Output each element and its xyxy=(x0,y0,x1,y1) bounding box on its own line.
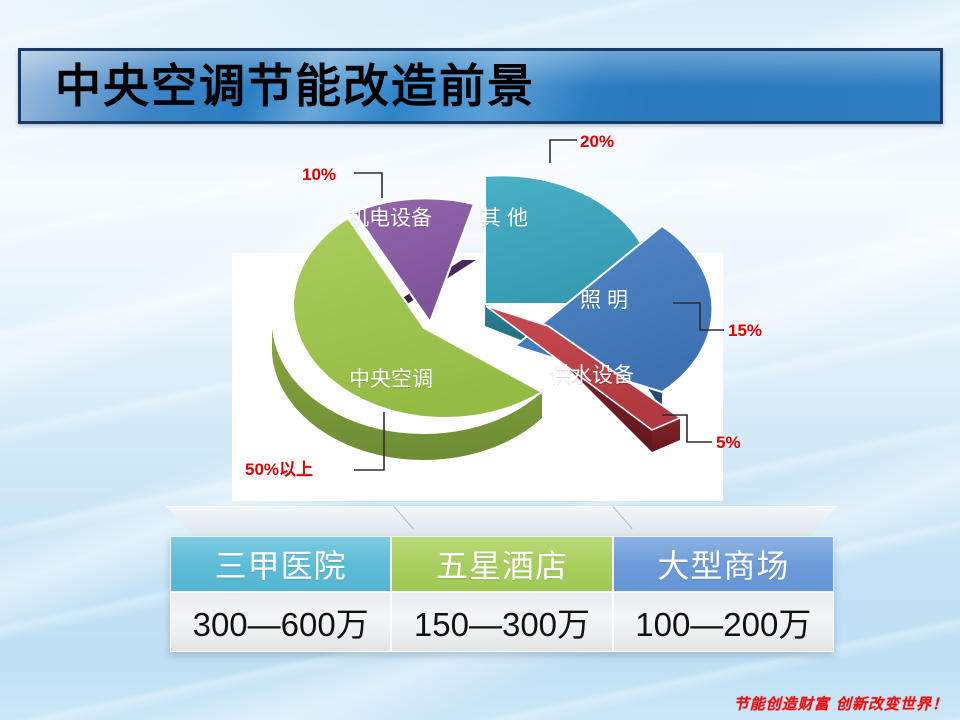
table-header-1[interactable]: 三甲医院 xyxy=(170,536,391,592)
table-header-2[interactable]: 五星酒店 xyxy=(391,536,612,592)
table-column-2: 五星酒店 150—300万 xyxy=(391,536,612,652)
pie-percent-供水设备: 5% xyxy=(716,434,741,451)
table-fold-line-left xyxy=(393,506,413,529)
table-fold-line-right xyxy=(612,506,632,529)
table-cell-2: 150—300万 xyxy=(391,592,612,652)
table-cell-3: 100—200万 xyxy=(613,592,834,652)
pie-percent-照明: 15% xyxy=(728,322,762,339)
pie-percent-机电设备: 10% xyxy=(302,166,336,183)
pie-chart-svg xyxy=(232,130,852,505)
table-grid: 三甲医院 300—600万 五星酒店 150—300万 大型商场 100—200… xyxy=(170,536,834,652)
pie-percent-其他: 20% xyxy=(580,133,614,150)
table-header-3[interactable]: 大型商场 xyxy=(613,536,834,592)
leader-line-机电设备 xyxy=(354,173,382,198)
table-column-3: 大型商场 100—200万 xyxy=(613,536,834,652)
table-column-1: 三甲医院 300—600万 xyxy=(170,536,391,652)
footer-slogan: 节能创造财富 创新改变世界！ xyxy=(734,693,948,714)
leader-line-其他 xyxy=(550,140,577,163)
table-cell-1: 300—600万 xyxy=(170,592,391,652)
slide-canvas: 中央空调节能改造前景 xyxy=(0,0,960,720)
pie-percent-中央空调: 50%以上 xyxy=(245,461,313,478)
slide-title-bar: 中央空调节能改造前景 xyxy=(18,48,943,124)
page-title: 中央空调节能改造前景 xyxy=(55,63,535,109)
table-top-face xyxy=(166,506,838,536)
pie-chart: 机电设备 其他 照明 供水设备 中央空调 20% 10% 15% 5% 50%以… xyxy=(232,130,852,505)
comparison-table: 三甲医院 300—600万 五星酒店 150—300万 大型商场 100—200… xyxy=(166,506,838,672)
